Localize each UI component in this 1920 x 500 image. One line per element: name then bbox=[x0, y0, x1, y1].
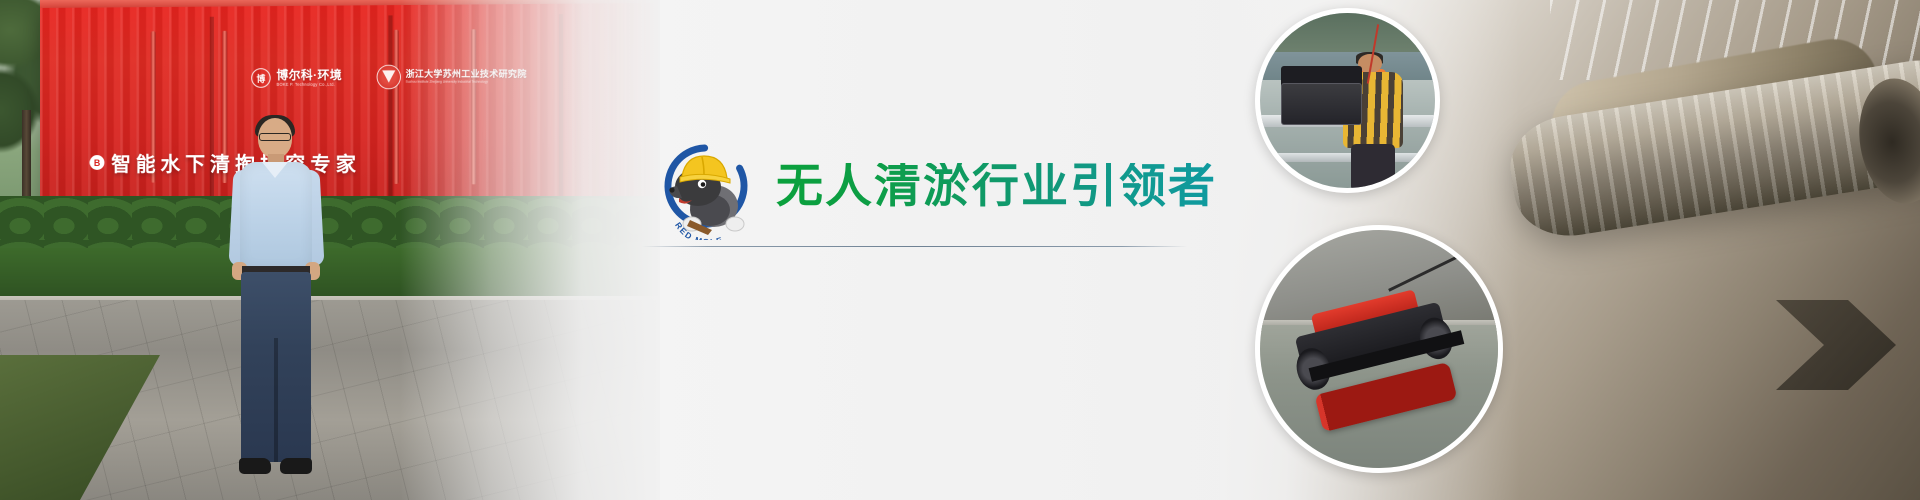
mole-pupil bbox=[701, 182, 706, 187]
container-door-handle bbox=[394, 30, 399, 184]
red-mole-logo: RED MOLE bbox=[652, 132, 760, 240]
banner-center-content: RED MOLE 无人清淤行业引领者 bbox=[660, 0, 1260, 500]
zju-logo-mark bbox=[377, 65, 401, 90]
red-mole-logo-svg: RED MOLE bbox=[652, 132, 760, 240]
container-brand-primary-text: 博尔科·环境 bbox=[276, 69, 342, 81]
hero-banner: 博 博尔科·环境 BOKE P. Technology Co.,Ltd. 浙江大… bbox=[0, 0, 1920, 500]
container-seam bbox=[388, 15, 392, 216]
container-brand-primary-subtext: BOKE P. Technology Co.,Ltd. bbox=[276, 82, 342, 87]
container-seam bbox=[210, 17, 214, 216]
boke-logo-mark: 博 bbox=[251, 68, 270, 88]
headline-divider bbox=[642, 246, 1187, 247]
person-glasses bbox=[259, 133, 291, 141]
container-site-photo: 博 博尔科·环境 BOKE P. Technology Co.,Ltd. 浙江大… bbox=[0, 0, 660, 500]
mole-right-glove bbox=[726, 217, 744, 231]
container-brand-primary: 博 博尔科·环境 BOKE P. Technology Co.,Ltd. bbox=[251, 68, 342, 88]
banner-headline: 无人清淤行业引领者 bbox=[776, 163, 1217, 210]
slogan-badge-icon: B bbox=[90, 155, 105, 170]
dredging-robot-circle-photo bbox=[1255, 225, 1503, 473]
left-photo-fade bbox=[400, 0, 660, 500]
circle1-treeline bbox=[1260, 13, 1435, 52]
operator-control-circle-photo bbox=[1255, 8, 1440, 193]
mole-nose bbox=[669, 187, 674, 192]
circle1-control-case bbox=[1281, 83, 1362, 125]
person-trouser-seam bbox=[274, 338, 278, 462]
dark-arrow-shape bbox=[1776, 300, 1896, 390]
person-shirt bbox=[240, 162, 312, 270]
person-left-shoe bbox=[239, 458, 271, 474]
person-standing bbox=[222, 118, 332, 490]
person-right-shoe bbox=[280, 458, 312, 474]
circle1-operator-legs bbox=[1351, 144, 1394, 190]
